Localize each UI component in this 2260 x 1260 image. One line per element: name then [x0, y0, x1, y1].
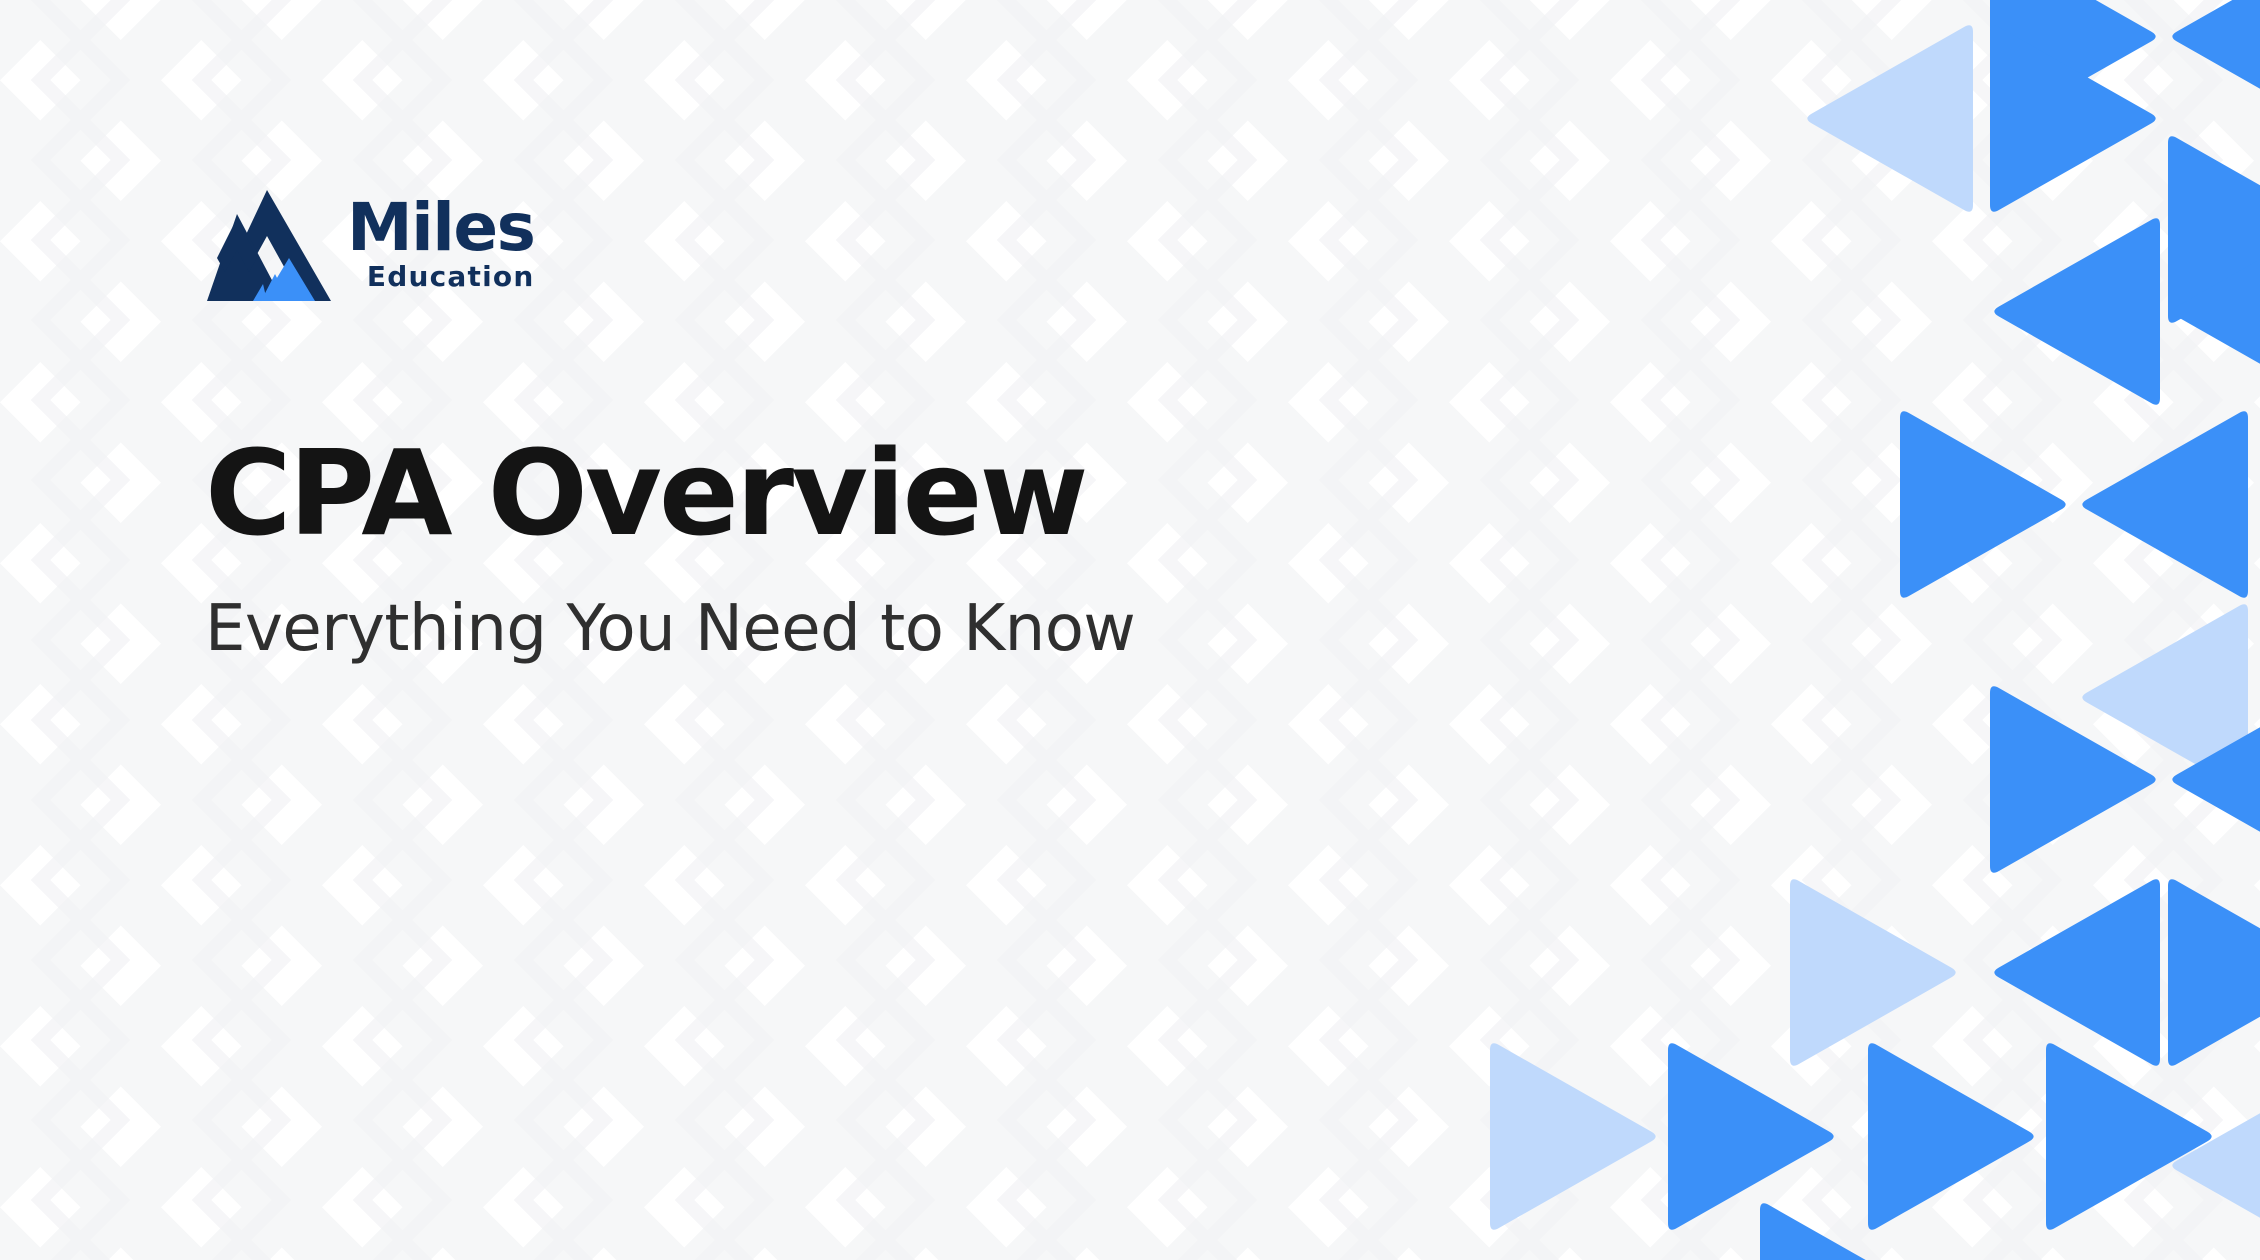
decorative-triangle [1994, 218, 2160, 404]
decorative-triangle [2082, 604, 2248, 790]
page-title: CPA Overview [205, 430, 1135, 557]
decorative-triangle [2172, 0, 2260, 130]
decorative-triangle [1760, 1203, 1926, 1260]
decorative-triangle [1807, 25, 1973, 211]
slide-canvas: Miles Education CPA Overview Everything … [0, 0, 2260, 1260]
heading-block: CPA Overview Everything You Need to Know [205, 430, 1135, 667]
decorative-triangle [2172, 686, 2260, 872]
decorative-triangle [1868, 1043, 2034, 1229]
decorative-triangle [1668, 1043, 1834, 1229]
triangle-decoration-pattern [1080, 0, 2260, 1260]
miles-mountain-logo-icon [205, 188, 333, 303]
decorative-triangle [1990, 0, 2156, 130]
brand-name-secondary: Education [367, 261, 535, 293]
brand-name-primary: Miles [347, 198, 534, 259]
decorative-triangle [2168, 136, 2260, 322]
brand-logo: Miles Education [205, 188, 534, 303]
decorative-triangle [1900, 411, 2066, 597]
decorative-triangle [1990, 25, 2156, 211]
decorative-triangle [1490, 1043, 1656, 1229]
decorative-triangle [2172, 218, 2260, 404]
decorative-triangle [2046, 1043, 2212, 1229]
page-subtitle: Everything You Need to Know [205, 593, 1135, 667]
decorative-triangle [1990, 686, 2156, 872]
decorative-triangle [1994, 879, 2160, 1065]
decorative-triangle [1790, 879, 1956, 1065]
decorative-triangle [2082, 411, 2248, 597]
decorative-triangle [2168, 879, 2260, 1065]
brand-wordmark: Miles Education [347, 198, 534, 294]
decorative-triangle [2172, 1072, 2260, 1258]
